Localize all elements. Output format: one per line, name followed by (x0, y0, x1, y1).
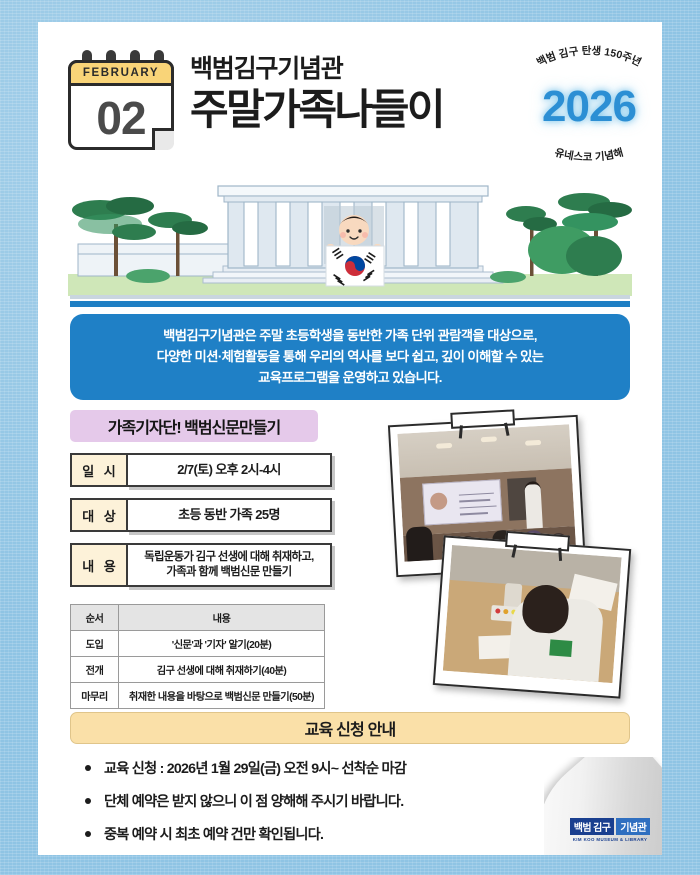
intro-line-1: 백범김구기념관은 주말 초등학생을 동반한 가족 단위 관람객을 대상으로, (84, 325, 616, 346)
anniversary-badge: 백범 김구 탄생 150주년 2026 유네스코 기념해 (514, 52, 662, 164)
list-item: 교육 신청 : 2026년 1월 29일(금) 오전 9시~ 선착순 마감 (82, 758, 622, 778)
apply-section-banner: 교육 신청 안내 (70, 712, 630, 744)
info-label-content: 내 용 (70, 543, 128, 587)
logo-part-2: 기념관 (616, 818, 650, 835)
calendar-fold-corner (152, 128, 174, 150)
illustration-divider-light (70, 295, 630, 299)
program-details-column: 가족기자단! 백범신문만들기 일 시 2/7(토) 오후 2시-4시 대 상 초… (70, 410, 332, 709)
badge-top-arc-text: 백범 김구 탄생 150주년 (535, 44, 644, 69)
paint-dot-orange (503, 609, 508, 614)
schedule-content-1: 김구 선생에 대해 취재하기(40분) (119, 657, 325, 683)
svg-text:백범 김구 탄생 150주년: 백범 김구 탄생 150주년 (535, 44, 644, 69)
ceiling-light-1 (436, 442, 452, 448)
page-title: 주말가족나들이 (190, 86, 443, 133)
info-value-content-line1: 독립운동가 김구 선생에 대해 취재하고, (144, 550, 313, 565)
info-value-datetime: 2/7(토) 오후 2시-4시 (126, 453, 332, 487)
info-value-target: 초등 동반 가족 25명 (126, 498, 332, 532)
calendar-month-label: FEBRUARY (83, 67, 159, 79)
schedule-order-0: 도입 (71, 631, 119, 657)
schedule-order-2: 마무리 (71, 683, 119, 709)
poster-card: FEBRUARY 02 백범김구기념관 주말가족나들이 백범 김구 탄생 150… (38, 22, 662, 855)
table-row: 전개 김구 선생에 대해 취재하기(40분) (71, 657, 325, 683)
schedule-content-2: 취재한 내용을 바탕으로 백범신문 만들기(50분) (119, 683, 325, 709)
schedule-table: 순서 내용 도입 '신문'과 '기자' 알기(20분) 전개 김구 선생에 대해… (70, 604, 325, 709)
intro-info-box: 백범김구기념관은 주말 초등학생을 동반한 가족 단위 관람객을 대상으로, 다… (70, 314, 630, 400)
tshirt-logo (550, 640, 573, 658)
photo-clip-icon (450, 409, 515, 429)
apply-notice-list: 교육 신청 : 2026년 1월 29일(금) 오전 9시~ 선착순 마감 단체… (82, 758, 622, 855)
title-block: 백범김구기념관 주말가족나들이 (190, 56, 443, 133)
list-item: 단체 예약은 받지 않으니 이 점 양해해 주시기 바랍니다. (82, 791, 622, 811)
calendar-month-bar: FEBRUARY (68, 60, 174, 86)
logo-subtitle: KIM KOO MUSEUM & LIBRARY (573, 837, 648, 842)
poster-header: FEBRUARY 02 백범김구기념관 주말가족나들이 백범 김구 탄생 150… (38, 22, 662, 162)
info-label-target: 대 상 (70, 498, 128, 532)
list-item: 중복 예약 시 최초 예약 건만 확인됩니다. (82, 824, 622, 844)
museum-logo: 백범 김구 기념관 KIM KOO MUSEUM & LIBRARY (566, 815, 654, 845)
intro-line-3: 교육프로그램을 운영하고 있습니다. (84, 367, 616, 388)
audience-1 (406, 526, 434, 561)
program-photo-activity (433, 535, 631, 698)
photo-clip-icon (505, 531, 570, 552)
schedule-header-order: 순서 (71, 605, 119, 631)
info-row-content: 내 용 독립운동가 김구 선생에 대해 취재하고, 가족과 함께 백범신문 만들… (70, 543, 332, 587)
ceiling-light-2 (480, 436, 496, 442)
illustration-divider-blue (70, 301, 630, 307)
paint-dot-red (495, 608, 500, 613)
calendar-icon: FEBRUARY 02 (68, 50, 174, 150)
museum-illustration-svg (38, 162, 662, 307)
logo-wordmark: 백범 김구 기념관 (570, 818, 650, 835)
ceiling-light-3 (525, 440, 541, 446)
info-label-datetime: 일 시 (70, 453, 128, 487)
schedule-content-0: '신문'과 '기자' 알기(20분) (119, 631, 325, 657)
svg-text:유네스코 기념해: 유네스코 기념해 (553, 146, 625, 164)
photo-collage (390, 414, 640, 704)
badge-year: 2026 (514, 82, 662, 132)
info-row-datetime: 일 시 2/7(토) 오후 2시-4시 (70, 453, 332, 487)
info-row-target: 대 상 초등 동반 가족 25명 (70, 498, 332, 532)
info-value-content: 독립운동가 김구 선생에 대해 취재하고, 가족과 함께 백범신문 만들기 (126, 543, 332, 587)
badge-top-arc: 백범 김구 탄생 150주년 (514, 52, 662, 82)
info-value-content-line2: 가족과 함께 백범신문 만들기 (166, 565, 291, 580)
photo-activity-image (443, 545, 622, 683)
museum-name: 백범김구기념관 (190, 56, 443, 84)
table-row: 마무리 취재한 내용을 바탕으로 백범신문 만들기(50분) (71, 683, 325, 709)
intro-line-2: 다양한 미션·체험활동을 통해 우리의 역사를 보다 쉽고, 깊이 이해할 수 … (84, 346, 616, 367)
schedule-order-1: 전개 (71, 657, 119, 683)
museum-illustration (38, 162, 662, 307)
presenter-body (524, 484, 542, 529)
schedule-header-content: 내용 (119, 605, 325, 631)
badge-bottom-arc-text: 유네스코 기념해 (553, 146, 625, 164)
table-row: 도입 '신문'과 '기자' 알기(20분) (71, 631, 325, 657)
schedule-header-row: 순서 내용 (71, 605, 325, 631)
program-title-banner: 가족기자단! 백범신문만들기 (70, 410, 318, 442)
logo-part-1: 백범 김구 (570, 818, 615, 835)
